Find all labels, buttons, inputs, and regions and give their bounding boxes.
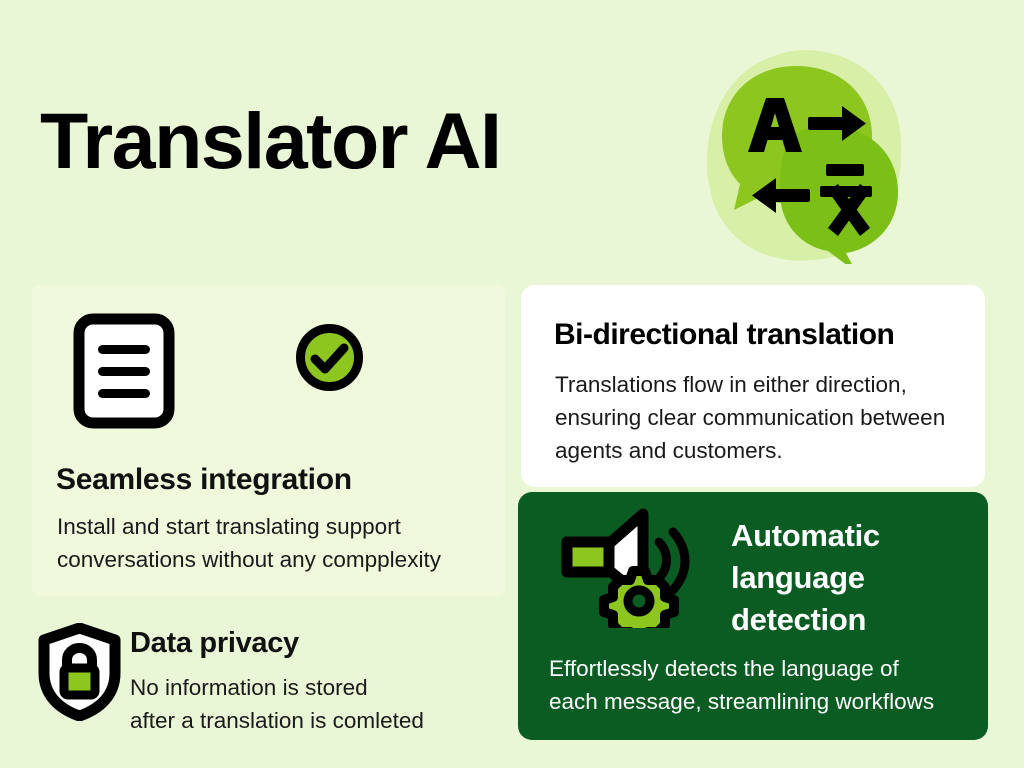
bidirectional-body-line-1: Translations flow in either direction, (555, 368, 965, 401)
section-data-privacy: Data privacy No information is stored af… (38, 614, 458, 734)
privacy-body: No information is stored after a transla… (130, 671, 470, 737)
infographic-page: Translator AI (0, 0, 1024, 768)
bidirectional-heading: Bi-directional translation (554, 318, 894, 352)
seamless-heading: Seamless integration (56, 463, 352, 497)
auto-detect-heading-line-2: language (731, 557, 971, 599)
auto-detect-body: Effortlessly detects the language of eac… (549, 652, 974, 718)
bidirectional-body: Translations flow in either direction, e… (555, 368, 965, 467)
seamless-body: Install and start translating support co… (57, 510, 487, 576)
translator-logo (704, 48, 904, 264)
shield-lock-icon (38, 623, 121, 721)
auto-detect-heading: Automatic language detection (731, 515, 971, 641)
card-automatic-language-detection: Automatic language detection Effortlessl… (518, 492, 988, 740)
check-circle-icon (294, 322, 365, 393)
seamless-body-line-2: conversations without any compplexity (57, 543, 487, 576)
auto-detect-heading-line-1: Automatic (731, 515, 971, 557)
card-bidirectional-translation: Bi-directional translation Translations … (521, 285, 985, 487)
bidirectional-body-line-2: ensuring clear communication between (555, 401, 965, 434)
document-lines-icon (73, 313, 175, 429)
megaphone-gear-icon (547, 506, 707, 628)
privacy-body-line-1: No information is stored (130, 671, 470, 704)
bidirectional-body-line-3: agents and customers. (555, 434, 965, 467)
privacy-heading: Data privacy (130, 627, 299, 660)
auto-detect-body-line-1: Effortlessly detects the language of (549, 652, 974, 685)
page-title: Translator AI (40, 101, 500, 180)
seamless-body-line-1: Install and start translating support (57, 510, 487, 543)
auto-detect-body-line-2: each message, streamlining workflows (549, 685, 974, 718)
card-seamless-integration: Seamless integration Install and start t… (32, 285, 505, 596)
privacy-body-line-2: after a translation is comleted (130, 704, 470, 737)
auto-detect-heading-line-3: detection (731, 599, 971, 641)
